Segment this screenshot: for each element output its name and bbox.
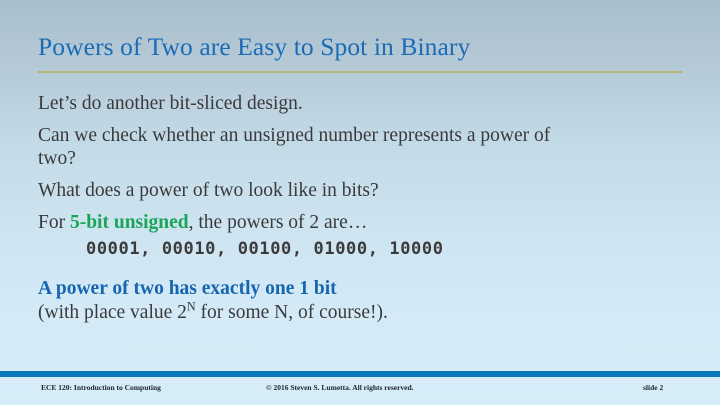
- body-line-6: (with place value 2N for some N, of cour…: [38, 301, 698, 324]
- binary-values-list: 00001, 00010, 00100, 01000, 10000: [38, 238, 698, 261]
- body-line-1: Let’s do another bit-sliced design.: [38, 92, 558, 115]
- exponent-superscript: N: [187, 300, 196, 314]
- body-line-3: What does a power of two look like in bi…: [38, 179, 558, 202]
- slide-body: Let’s do another bit-sliced design. Can …: [38, 92, 698, 324]
- key-takeaway-line: A power of two has exactly one 1 bit: [38, 277, 698, 300]
- footer-course-label: ECE 120: Introduction to Computing: [41, 383, 161, 392]
- body-line-2: Can we check whether an unsigned number …: [38, 124, 558, 170]
- emphasis-5-bit-unsigned: 5-bit unsigned: [70, 212, 189, 233]
- footer-copyright-label: © 2016 Steven S. Lumetta. All rights res…: [266, 383, 414, 392]
- body-line-4-prefix: For: [38, 212, 70, 233]
- body-line-6-prefix: (with place value 2: [38, 302, 187, 323]
- body-line-4-suffix: , the powers of 2 are…: [189, 212, 368, 233]
- slide-footer: ECE 120: Introduction to Computing © 201…: [0, 383, 720, 397]
- body-line-4: For 5-bit unsigned, the powers of 2 are…: [38, 211, 558, 234]
- footer-slide-number: slide 2: [643, 383, 663, 392]
- slide-canvas: Powers of Two are Easy to Spot in Binary…: [0, 0, 720, 405]
- footer-divider-bar: [0, 371, 720, 377]
- page-title: Powers of Two are Easy to Spot in Binary: [38, 32, 470, 62]
- body-line-6-suffix: for some N, of course!).: [196, 302, 388, 323]
- title-underline-rule: [38, 71, 682, 73]
